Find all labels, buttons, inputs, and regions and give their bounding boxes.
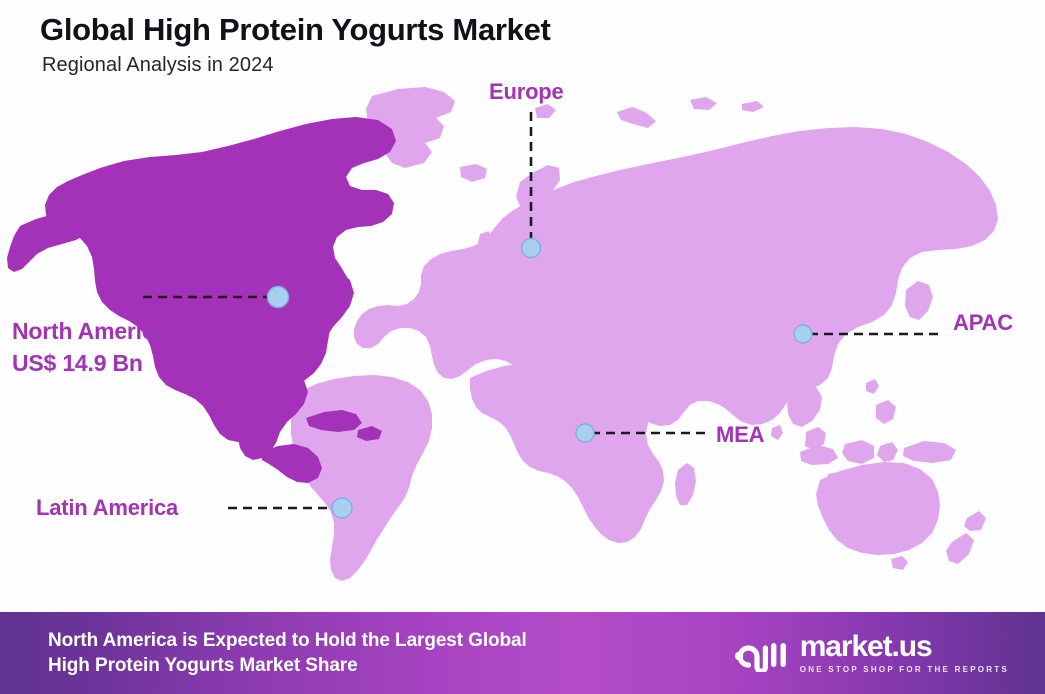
logo-text: market.us ONE STOP SHOP FOR THE REPORTS: [800, 632, 1009, 674]
infographic-canvas: Global High Protein Yogurts Market Regio…: [0, 0, 1045, 694]
region-name-north-america: North America: [12, 318, 167, 344]
region-label-mea: MEA: [716, 422, 764, 448]
logo-wordmark: market.us: [800, 632, 1009, 662]
page-subtitle: Regional Analysis in 2024: [42, 54, 551, 77]
banner-headline: North America is Expected to Hold the La…: [48, 628, 527, 679]
header: Global High Protein Yogurts Market Regio…: [40, 12, 551, 77]
brand-logo[interactable]: market.us ONE STOP SHOP FOR THE REPORTS: [733, 632, 1009, 674]
banner-headline-line2: High Protein Yogurts Market Share: [48, 653, 527, 678]
region-label-north-america: North America US$ 14.9 Bn: [12, 318, 167, 377]
region-name-apac: APAC: [953, 310, 1013, 335]
region-name-europe: Europe: [489, 79, 564, 104]
market-us-logo-icon: [733, 634, 791, 672]
region-name-mea: MEA: [716, 422, 764, 447]
region-name-latin-america: Latin America: [36, 495, 178, 520]
banner-headline-line1: North America is Expected to Hold the La…: [48, 628, 527, 653]
page-title: Global High Protein Yogurts Market: [40, 12, 551, 48]
logo-tagline: ONE STOP SHOP FOR THE REPORTS: [800, 666, 1009, 674]
region-label-apac: APAC: [953, 310, 1013, 336]
footer-banner: North America is Expected to Hold the La…: [0, 612, 1045, 694]
region-label-europe: Europe: [489, 79, 564, 105]
region-label-latin-america: Latin America: [36, 495, 178, 521]
region-value-north-america: US$ 14.9 Bn: [12, 350, 167, 378]
